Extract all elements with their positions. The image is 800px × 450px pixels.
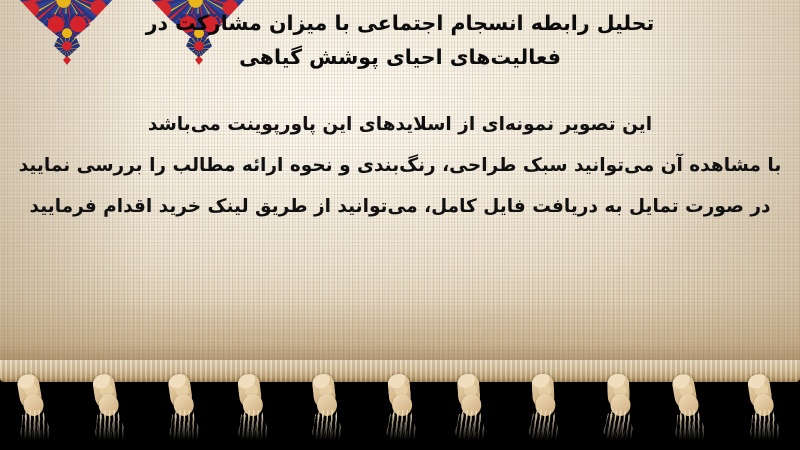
fringe-bottom-shadow <box>0 416 800 450</box>
slide-title: تحلیل رابطه انسجام اجتماعی با میزان مشار… <box>0 6 800 74</box>
slide-body-text: این تصویر نمونه‌ای از اسلایدهای این پاور… <box>0 104 800 227</box>
carpet-fringe <box>0 360 800 450</box>
slide-body-line-2: با مشاهده آن می‌توانید سبک طراحی، رنگ‌بن… <box>0 145 800 186</box>
slide-body-line-3: در صورت تمایل به دریافت فایل کامل، می‌تو… <box>0 186 800 227</box>
slide-title-line-2: فعالیت‌های احیای پوشش گیاهی <box>0 40 800 74</box>
slide-body-line-1: این تصویر نمونه‌ای از اسلایدهای این پاور… <box>0 104 800 145</box>
slide-title-line-1: تحلیل رابطه انسجام اجتماعی با میزان مشار… <box>0 6 800 40</box>
presentation-slide: تحلیل رابطه انسجام اجتماعی با میزان مشار… <box>0 0 800 450</box>
